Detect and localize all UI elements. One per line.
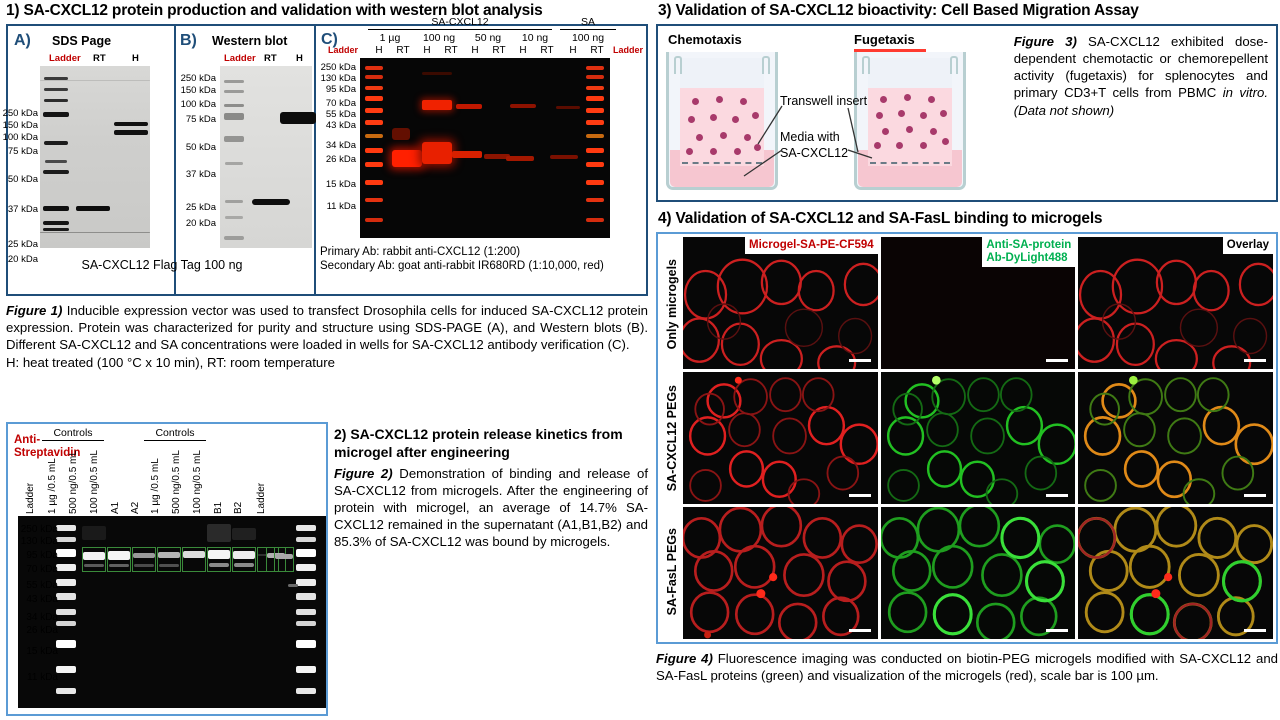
annotation-media-line1: Media with [780, 130, 840, 145]
panel-b-mw-50: 50 kDa [164, 142, 216, 153]
figure2-caption: Figure 2) Demonstration of binding and r… [334, 465, 648, 551]
panel-a-mw-150: 150 kDa [0, 120, 38, 131]
row-label-only-microgels: Only microgels [661, 237, 683, 371]
scale-bar [1046, 359, 1068, 362]
panel-c-conc-1ug: 1 µg [368, 32, 412, 44]
panel-c-mw-55: 55 kDa [306, 109, 356, 120]
panel-c-mw-95: 95 kDa [306, 84, 356, 95]
poster-figure-page: 1) SA-CXCL12 protein production and vali… [0, 0, 1280, 720]
micrograph-safasl-overlay[interactable] [1078, 507, 1273, 639]
diagram-label-chemotaxis: Chemotaxis [668, 32, 742, 47]
panel-c-treat-h-3: H [464, 45, 486, 56]
figure2-mw-55: 55 kDa [0, 580, 58, 591]
annotation-transwell-insert: Transwell insert [780, 94, 867, 109]
panel-c-treat-rt-3: RT [488, 45, 510, 56]
figure2-controls-bracket-1 [42, 440, 104, 441]
figure4-caption-lead: Figure 4) [656, 651, 713, 666]
figure2-lane-100ng-2: 100 ng/0.5 mL [189, 444, 207, 514]
panel-a-lane-rt: RT [93, 53, 106, 64]
figure2-controls-label-2: Controls [144, 427, 206, 439]
figure1-caption-lead: Figure 1) [6, 303, 62, 318]
left-column: 1) SA-CXCL12 protein production and vali… [4, 2, 652, 718]
transwell-diagram: Chemotaxis Fugetaxis [658, 26, 1006, 200]
micrograph-sacxcl12-red[interactable] [683, 372, 878, 504]
figure2-lane-a2: A2 [127, 482, 145, 514]
panel-c-treat-h-4: H [512, 45, 534, 56]
figure1-caption-body: Inducible expression vector was used to … [6, 303, 648, 352]
panel-a-gel-image [40, 66, 150, 248]
figure2-lane-b1: B1 [210, 482, 228, 514]
figure2-controls-label-1: Controls [42, 427, 104, 439]
cell-tag-microgel-sa-pe-cf594: Microgel-SA-PE-CF594 [745, 237, 878, 254]
scale-bar [849, 359, 871, 362]
figure2-mw-250: 250 kDa [0, 524, 58, 535]
panel-c-ladder-left: Ladder [328, 45, 358, 55]
right-column: 3) Validation of SA-CXCL12 bioactivity: … [656, 2, 1278, 718]
panel-a-mw-25: 25 kDa [0, 239, 38, 250]
figure2-mw-11: 11 kDa [0, 672, 58, 683]
scale-bar [1046, 629, 1068, 632]
figure2-controls-bracket-2 [144, 440, 206, 441]
micrograph-onlymicrogels-green[interactable]: Anti-SA-protein Ab-DyLight488 [881, 237, 1076, 369]
scale-bar [1244, 494, 1266, 497]
cell-tag-overlay: Overlay [1223, 237, 1273, 254]
panel-a-heading: SDS Page [52, 34, 111, 48]
panel-b-mw-25: 25 kDa [164, 202, 216, 213]
panel-c-group-bracket-sacxcl12 [368, 29, 552, 30]
figure4-caption: Figure 4) Fluorescence imaging was condu… [656, 650, 1278, 684]
panel-c-treat-rt-1: RT [392, 45, 414, 56]
figure3-caption: Figure 3) SA-CXCL12 exhibited dose-depen… [1006, 26, 1276, 200]
panel-b-lane-h: H [296, 53, 303, 64]
figure2-mw-26: 26 kDa [0, 625, 58, 636]
cell-tag-anti-sa-protein-ab-dylight488: Anti-SA-protein Ab-DyLight488 [982, 237, 1075, 267]
panel-c-secondary-antibody: Secondary Ab: goat anti-rabbit IR680RD (… [320, 260, 604, 272]
panel-a-mw-37: 37 kDa [0, 204, 38, 215]
figure2-mw-95: 95 kDa [0, 550, 58, 561]
figure2-gel-box: Anti-Streptavidin Controls Controls Ladd… [6, 422, 328, 716]
figure2-lane-500ng: 500 ng/0.5 mL [65, 444, 83, 514]
panel-c-treat-rt-4: RT [536, 45, 558, 56]
row-label-sa-fasl-pegs: SA-FasL PEGs [661, 505, 683, 639]
panel-c-conc-100ng: 100 ng [414, 32, 464, 44]
panel-c-mw-11: 11 kDa [306, 201, 356, 212]
panel-a-lane-h: H [132, 53, 139, 64]
chemotaxis-well [666, 52, 778, 192]
figure2-caption-lead: Figure 2) [334, 466, 393, 481]
figure3-title: 3) Validation of SA-CXCL12 bioactivity: … [658, 2, 1139, 20]
figure2-lane-1ug: 1 µg /0.5 mL [44, 444, 62, 514]
figure2-lane-ladder-left: Ladder [22, 444, 40, 514]
figure2-lane-1ug-2: 1 µg /0.5 mL [147, 444, 165, 514]
panel-c-gel-image [360, 58, 610, 238]
scale-bar [849, 629, 871, 632]
panel-a-mw-100: 100 kDa [0, 132, 38, 143]
panel-c-antibody-verification: C) SA-CXCL12 SA 1 µg 100 ng 50 ng 10 ng … [316, 26, 646, 294]
scale-bar [849, 494, 871, 497]
panel-c-mw-26: 26 kDa [306, 154, 356, 165]
panel-c-group-label-sa: SA [560, 16, 616, 28]
panel-b-mw-75: 75 kDa [164, 114, 216, 125]
panel-c-treat-rt-2: RT [440, 45, 462, 56]
micrograph-sacxcl12-overlay[interactable] [1078, 372, 1273, 504]
panel-b-mw-250: 250 kDa [164, 73, 216, 84]
panel-a-letter: A) [14, 32, 31, 50]
panel-c-mw-34: 34 kDa [306, 140, 356, 151]
panel-c-group-label-sacxcl12: SA-CXCL12 [368, 16, 552, 28]
figure2-mw-43: 43 kDa [0, 594, 58, 605]
scale-bar [1046, 494, 1068, 497]
panel-c-treat-h-2: H [416, 45, 438, 56]
figure2-mw-70: 70 kDa [0, 564, 58, 575]
panel-a-lane-ladder: Ladder [49, 53, 81, 64]
panel-a-mw-75: 75 kDa [0, 146, 38, 157]
panel-b-lane-ladder: Ladder [224, 53, 256, 64]
diagram-label-fugetaxis: Fugetaxis [854, 32, 915, 47]
panel-c-mw-15: 15 kDa [306, 179, 356, 190]
panel-b-heading: Western blot [212, 34, 287, 48]
panel-c-mw-43: 43 kDa [306, 120, 356, 131]
panel-c-mw-250: 250 kDa [306, 62, 356, 73]
micrograph-onlymicrogels-red[interactable]: Microgel-SA-PE-CF594 [683, 237, 878, 369]
panel-c-mw-70: 70 kDa [306, 98, 356, 109]
micrograph-sacxcl12-green[interactable] [881, 372, 1076, 504]
figure1-caption: Figure 1) Inducible expression vector wa… [6, 302, 648, 372]
panel-b-mw-20: 20 kDa [164, 218, 216, 229]
figure4-caption-body: Fluorescence imaging was conducted on bi… [656, 651, 1278, 683]
panel-c-ladder-right: Ladder [613, 45, 643, 55]
figure3-caption-lead: Figure 3) [1014, 34, 1077, 49]
panel-b-western-blot: B) Western blot Ladder RT H [176, 26, 316, 294]
figure4-micrograph-grid: Microgel-SA-PE-CF594 [683, 237, 1273, 639]
micrograph-safasl-green[interactable] [881, 507, 1076, 639]
panel-c-treat-h-1: H [368, 45, 390, 56]
fugetaxis-well [854, 52, 966, 192]
panel-a-mw-250: 250 kDa [0, 108, 38, 119]
panel-c-group-bracket-sa [560, 29, 616, 30]
figure4-image-grid-box: Only microgels SA-CXCL12 PEGs SA-FasL PE… [656, 232, 1278, 644]
figure2-lane-100ng: 100 ng/0.5 mL [86, 444, 104, 514]
panel-a-mw-50: 50 kDa [0, 174, 38, 185]
panel-c-conc-sa-100ng: 100 ng [562, 32, 614, 44]
figure4-title: 4) Validation of SA-CXCL12 and SA-FasL b… [658, 210, 1102, 228]
figure2-lane-b2: B2 [230, 482, 248, 514]
panel-c-treat-rt-5: RT [586, 45, 608, 56]
panel-b-letter: B) [180, 32, 197, 50]
panel-c-mw-130: 130 kDa [306, 73, 356, 84]
panel-b-gel-image [220, 66, 312, 248]
figure4-row-labels: Only microgels SA-CXCL12 PEGs SA-FasL PE… [661, 237, 683, 639]
figure1-panel-box: A) SDS Page Ladder RT H [6, 24, 648, 296]
figure2-title: 2) SA-CXCL12 protein release kinetics fr… [334, 426, 648, 462]
panel-b-mw-100: 100 kDa [164, 99, 216, 110]
panel-c-conc-50ng: 50 ng [466, 32, 510, 44]
figure2-mw-15: 15 kDa [0, 646, 58, 657]
figure2-mw-130: 130 kDa [0, 536, 58, 547]
figure2-lane-500ng-2: 500 ng/0.5 mL [168, 444, 186, 514]
panel-a-sds-page: A) SDS Page Ladder RT H [8, 26, 176, 294]
annotation-media-line2: SA-CXCL12 [780, 146, 848, 161]
panel-b-mw-150: 150 kDa [164, 85, 216, 96]
figure1-caption-note: H: heat treated (100 °C x 10 min), RT: r… [6, 354, 648, 371]
panel-c-conc-10ng: 10 ng [512, 32, 558, 44]
micrograph-onlymicrogels-overlay[interactable]: Overlay [1078, 237, 1273, 369]
figure2-text-block: 2) SA-CXCL12 protein release kinetics fr… [334, 426, 648, 551]
micrograph-safasl-red[interactable] [683, 507, 878, 639]
scale-bar [1244, 629, 1266, 632]
row-label-sa-cxcl12-pegs: SA-CXCL12 PEGs [661, 371, 683, 505]
figure2-mw-34: 34 kDa [0, 612, 58, 623]
figure3-panel-box: Chemotaxis Fugetaxis [656, 24, 1278, 202]
panel-c-primary-antibody: Primary Ab: rabbit anti-CXCL12 (1:200) [320, 246, 520, 258]
figure2-gel-image [18, 516, 326, 708]
panel-b-mw-37: 37 kDa [164, 169, 216, 180]
figure2-lane-ladder-right: Ladder [253, 444, 271, 514]
figure2-lane-a1: A1 [107, 482, 125, 514]
scale-bar [1244, 359, 1266, 362]
panel-b-lane-rt: RT [264, 53, 277, 64]
panel-c-treat-h-5: H [562, 45, 584, 56]
